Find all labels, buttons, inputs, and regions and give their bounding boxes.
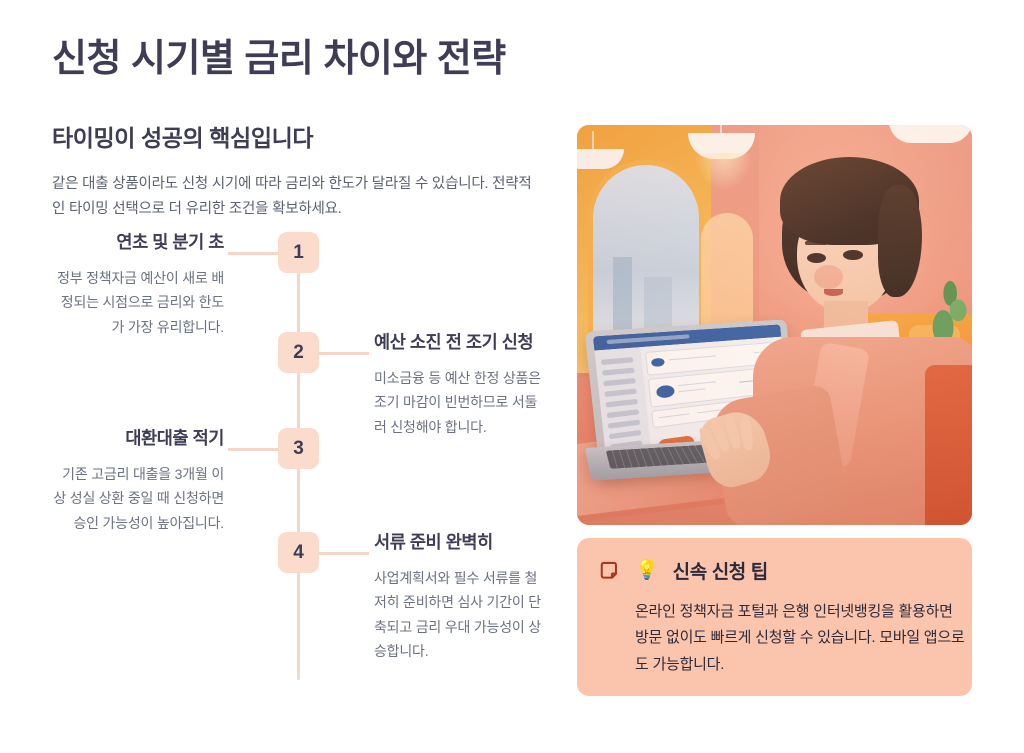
- timeline-body-3: 기존 고금리 대출을 3개월 이상 성실 상환 중일 때 신청하면 승인 가능성…: [52, 462, 224, 535]
- hair-side: [878, 185, 922, 297]
- timeline-connector-1: [228, 252, 280, 255]
- section-subtitle: 타이밍이 성공의 핵심입니다: [52, 124, 544, 154]
- timeline-content-4: 서류 준비 완벽히 사업계획서와 필수 서류를 철저히 준비하면 심사 기간이 …: [374, 530, 546, 663]
- timeline-connector-3: [228, 448, 280, 451]
- hero-illustration: [577, 125, 972, 525]
- note-icon: [599, 560, 621, 582]
- timeline-content-2: 예산 소진 전 조기 신청 미소금융 등 예산 한정 상품은 조기 마감이 빈번…: [374, 330, 546, 439]
- timeline-content-3: 대환대출 적기 기존 고금리 대출을 3개월 이상 성실 상환 중일 때 신청하…: [52, 426, 224, 535]
- intro-section: 타이밍이 성공의 핵심입니다 같은 대출 상품이라도 신청 시기에 따라 금리와…: [52, 124, 544, 222]
- pendant-lamp-right: [889, 125, 972, 143]
- hero-image: [577, 125, 972, 525]
- timeline-body-4: 사업계획서와 필수 서류를 철저히 준비하면 심사 기간이 단축되고 금리 우대…: [374, 566, 546, 663]
- timeline-badge-4: 4: [278, 532, 319, 573]
- eye-right: [843, 250, 863, 260]
- timeline-heading-4: 서류 준비 완벽히: [374, 530, 546, 555]
- timeline-heading-2: 예산 소진 전 조기 신청: [374, 330, 546, 355]
- timeline-badge-1: 1: [278, 232, 319, 273]
- timeline-content-1: 연초 및 분기 초 정부 정책자금 예산이 새로 배정되는 시점으로 금리와 한…: [52, 230, 224, 339]
- timeline-body-2: 미소금융 등 예산 한정 상품은 조기 마감이 빈번하므로 서둘러 신청해야 합…: [374, 366, 546, 439]
- lightbulb-icon: 💡: [635, 561, 659, 580]
- intro-paragraph: 같은 대출 상품이라도 신청 시기에 따라 금리와 한도가 달라질 수 있습니다…: [52, 172, 540, 222]
- timeline-badge-3: 3: [278, 428, 319, 469]
- timeline-heading-3: 대환대출 적기: [52, 426, 224, 451]
- tip-title: 신속 신청 팁: [673, 557, 768, 584]
- tip-card: 💡 신속 신청 팁 온라인 정책자금 포털과 은행 인터넷뱅킹을 활용하면 방문…: [577, 538, 972, 696]
- timeline-body-1: 정부 정책자금 예산이 새로 배정되는 시점으로 금리와 한도가 가장 유리합니…: [52, 266, 224, 339]
- timeline-connector-4: [317, 552, 369, 555]
- chair-backrest: [925, 365, 972, 525]
- timeline-heading-1: 연초 및 분기 초: [52, 230, 224, 255]
- timeline-badge-2: 2: [278, 332, 319, 373]
- timeline-connector-2: [317, 352, 369, 355]
- infographic-page: 신청 시기별 금리 차이와 전략 타이밍이 성공의 핵심입니다 같은 대출 상품…: [0, 0, 1024, 753]
- timeline: 1 연초 및 분기 초 정부 정책자금 예산이 새로 배정되는 시점으로 금리와…: [52, 232, 544, 680]
- tip-header: 💡 신속 신청 팁: [599, 557, 950, 584]
- page-title: 신청 시기별 금리 차이와 전략: [52, 36, 506, 84]
- tip-body: 온라인 정책자금 포털과 은행 인터넷뱅킹을 활용하면 방문 없이도 빠르게 신…: [635, 599, 965, 678]
- cheek: [814, 265, 843, 289]
